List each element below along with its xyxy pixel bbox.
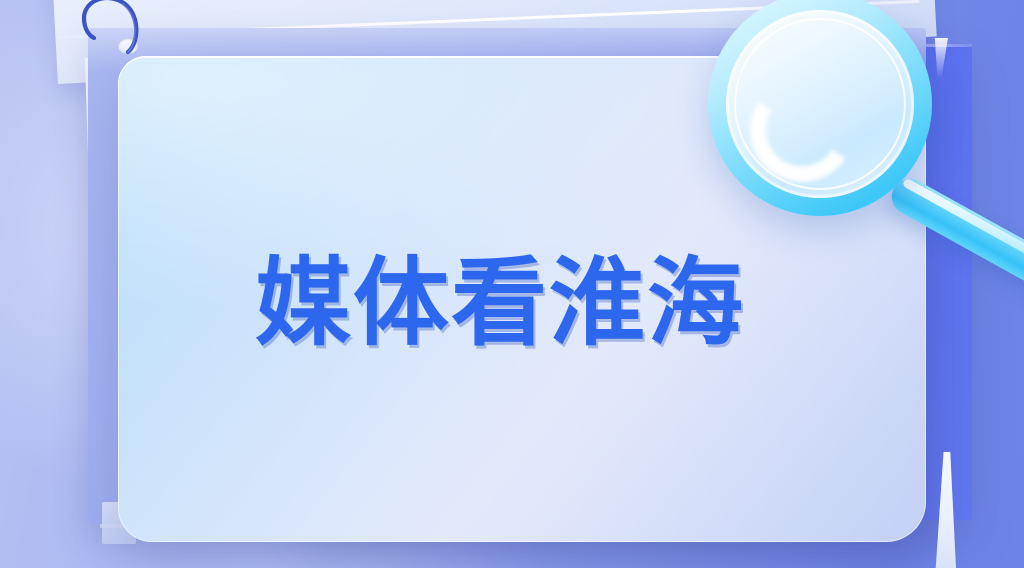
page-title: 媒体看淮海	[255, 246, 775, 360]
banner-canvas: 媒体看淮海 媒体看淮海 banner graphic	[0, 0, 1024, 568]
binder-ring-clip-icon	[78, 0, 150, 70]
